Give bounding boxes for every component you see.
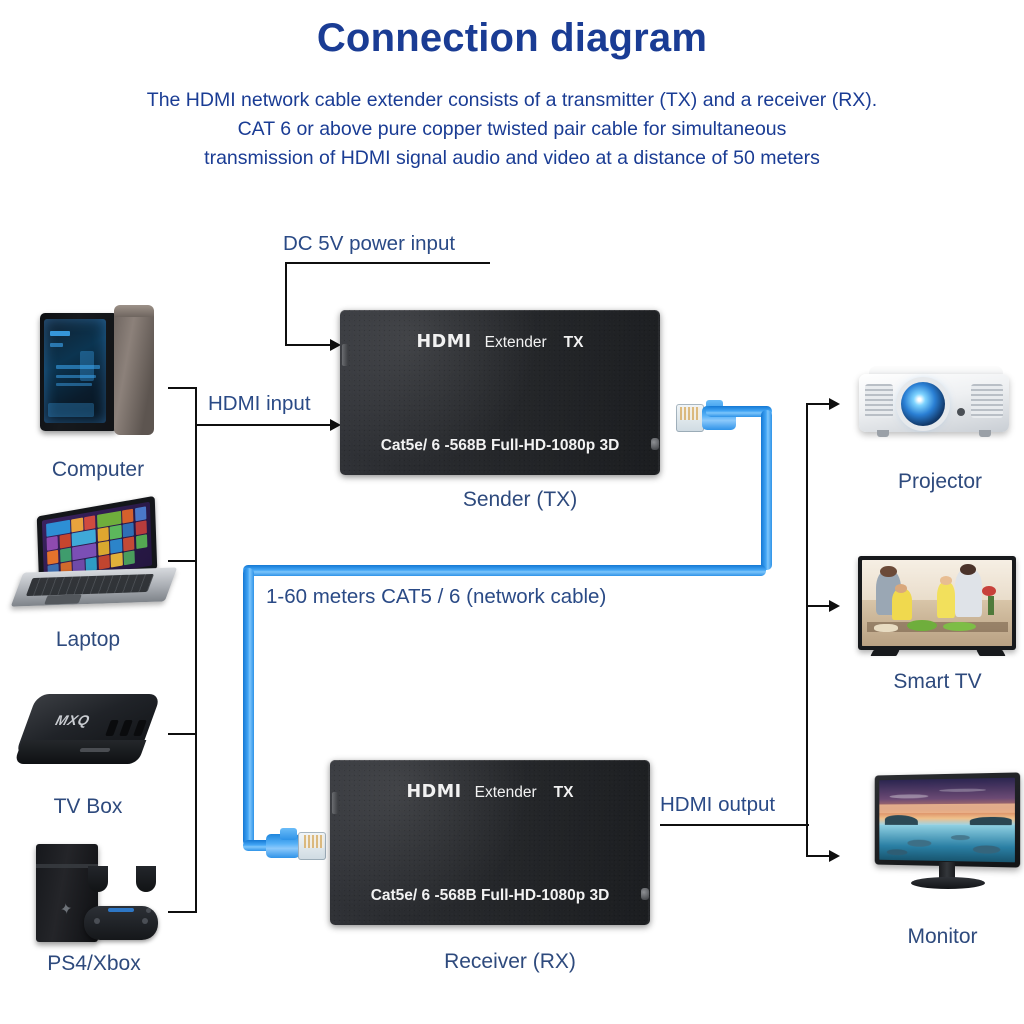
tv-box-front bbox=[14, 740, 147, 764]
computer-label: Computer bbox=[18, 458, 178, 482]
receiver-mode-text: TX bbox=[554, 784, 574, 801]
tv-box-slot bbox=[79, 748, 110, 752]
power-input-drop-wire bbox=[285, 262, 287, 346]
receiver-output-port bbox=[641, 888, 649, 900]
monitor-screen-content bbox=[879, 778, 1015, 863]
tower-side-panel bbox=[114, 307, 154, 435]
hdmi-input-wire bbox=[195, 424, 336, 426]
display-bus-line bbox=[806, 403, 808, 856]
projector-lens bbox=[901, 382, 945, 426]
receiver-hdmi-logo: HDMI bbox=[407, 782, 462, 802]
computer-stub bbox=[168, 387, 197, 389]
tower-psu-glow bbox=[48, 403, 94, 417]
hdmi-input-label: HDMI input bbox=[208, 392, 311, 416]
sender-caption: Sender (TX) bbox=[400, 488, 640, 512]
hdmi-output-wire bbox=[660, 824, 809, 826]
controller-button-cluster bbox=[146, 908, 151, 913]
projector-vent-right bbox=[971, 384, 1003, 418]
projector-foot-right bbox=[979, 430, 991, 437]
smart-tv-screen-content bbox=[862, 560, 1012, 646]
sender-hdmi-logo: HDMI bbox=[417, 332, 472, 352]
smart-tv-frame bbox=[858, 556, 1016, 650]
subtitle-line-1: The HDMI network cable extender consists… bbox=[62, 86, 962, 115]
tower-led-2 bbox=[50, 343, 63, 347]
controller-stick-left bbox=[94, 918, 100, 924]
smart-tv-arrow bbox=[829, 600, 840, 612]
tower-top-panel bbox=[114, 305, 154, 317]
tower-led-1 bbox=[50, 331, 70, 336]
rj45-pins-sender bbox=[680, 407, 700, 420]
receiver-device: HDMIExtenderTX Cat5e/ 6 -568B Full-HD-10… bbox=[330, 760, 650, 925]
laptop-label: Laptop bbox=[8, 628, 168, 652]
projector-image bbox=[845, 358, 1024, 444]
computer-image bbox=[18, 303, 168, 443]
monitor-frame bbox=[875, 772, 1020, 867]
cable-segment-right-vertical bbox=[761, 410, 772, 570]
smart-tv-label: Smart TV bbox=[850, 670, 1024, 694]
hdmi-output-label: HDMI output bbox=[660, 793, 775, 817]
monitor-image bbox=[855, 770, 1024, 895]
receiver-model-text: Extender bbox=[475, 784, 537, 801]
projector-foot-left bbox=[877, 430, 889, 437]
sender-spec-text: Cat5e/ 6 -568B Full-HD-1080p 3D bbox=[340, 437, 660, 455]
sender-input-port bbox=[342, 344, 348, 366]
page-subtitle: The HDMI network cable extender consists… bbox=[62, 86, 962, 173]
cable-segment-left-vertical bbox=[243, 568, 254, 846]
sender-mode-text: TX bbox=[564, 334, 584, 351]
monitor-label: Monitor bbox=[855, 925, 1024, 949]
tower-gpu-glow bbox=[80, 351, 94, 381]
monitor-arrow bbox=[829, 850, 840, 862]
laptop-trackpad bbox=[44, 594, 82, 604]
controller-grip-left bbox=[88, 866, 108, 892]
laptop-image bbox=[8, 500, 178, 612]
rj45-plug-sender bbox=[676, 398, 738, 438]
ps4-xbox-image: ✦ bbox=[10, 840, 180, 950]
sender-output-port bbox=[651, 438, 659, 450]
tv-box-stub bbox=[168, 733, 197, 735]
projector-vent-left bbox=[865, 384, 893, 418]
power-input-label: DC 5V power input bbox=[283, 232, 455, 256]
controller-lightbar bbox=[108, 908, 134, 912]
network-cable-label: 1-60 meters CAT5 / 6 (network cable) bbox=[266, 585, 606, 609]
tv-box-label: TV Box bbox=[8, 795, 168, 819]
receiver-input-port bbox=[332, 792, 338, 814]
ps4-xbox-label: PS4/Xbox bbox=[4, 952, 184, 976]
sender-faceplate-top: HDMIExtenderTX bbox=[340, 332, 660, 352]
tv-box-image: MXQ bbox=[12, 680, 172, 780]
source-bus-line bbox=[195, 387, 197, 913]
projector-arrow bbox=[829, 398, 840, 410]
smart-tv-foot-left bbox=[870, 650, 899, 656]
tower-led-5 bbox=[56, 383, 92, 386]
subtitle-line-2: CAT 6 or above pure copper twisted pair … bbox=[62, 115, 962, 144]
projector-button bbox=[957, 408, 965, 416]
monitor-base bbox=[911, 877, 985, 889]
connection-diagram: Connection diagram The HDMI network cabl… bbox=[0, 0, 1024, 1024]
tv-box-logo: MXQ bbox=[54, 712, 92, 728]
rj45-clip-receiver bbox=[280, 828, 297, 840]
smart-tv-image bbox=[850, 550, 1024, 662]
controller-grip-right bbox=[136, 866, 156, 892]
page-title: Connection diagram bbox=[0, 16, 1024, 61]
smart-tv-foot-right bbox=[976, 650, 1005, 656]
cable-segment-middle-horizontal bbox=[243, 565, 766, 576]
rj45-pins-receiver bbox=[304, 835, 324, 848]
ps4-logo: ✦ bbox=[59, 899, 74, 919]
sender-model-text: Extender bbox=[485, 334, 547, 351]
projector-label: Projector bbox=[855, 470, 1024, 494]
controller-stick-right bbox=[142, 918, 148, 924]
power-input-top-wire bbox=[285, 262, 490, 264]
receiver-spec-text: Cat5e/ 6 -568B Full-HD-1080p 3D bbox=[330, 887, 650, 905]
power-input-lead-wire bbox=[285, 344, 335, 346]
subtitle-line-3: transmission of HDMI signal audio and vi… bbox=[62, 144, 962, 173]
sender-device: HDMIExtenderTX Cat5e/ 6 -568B Full-HD-10… bbox=[340, 310, 660, 475]
receiver-caption: Receiver (RX) bbox=[390, 950, 630, 974]
ps4-stub bbox=[168, 911, 197, 913]
laptop-stub bbox=[168, 560, 197, 562]
receiver-faceplate-top: HDMIExtenderTX bbox=[330, 782, 650, 802]
rj45-plug-receiver bbox=[266, 826, 328, 866]
